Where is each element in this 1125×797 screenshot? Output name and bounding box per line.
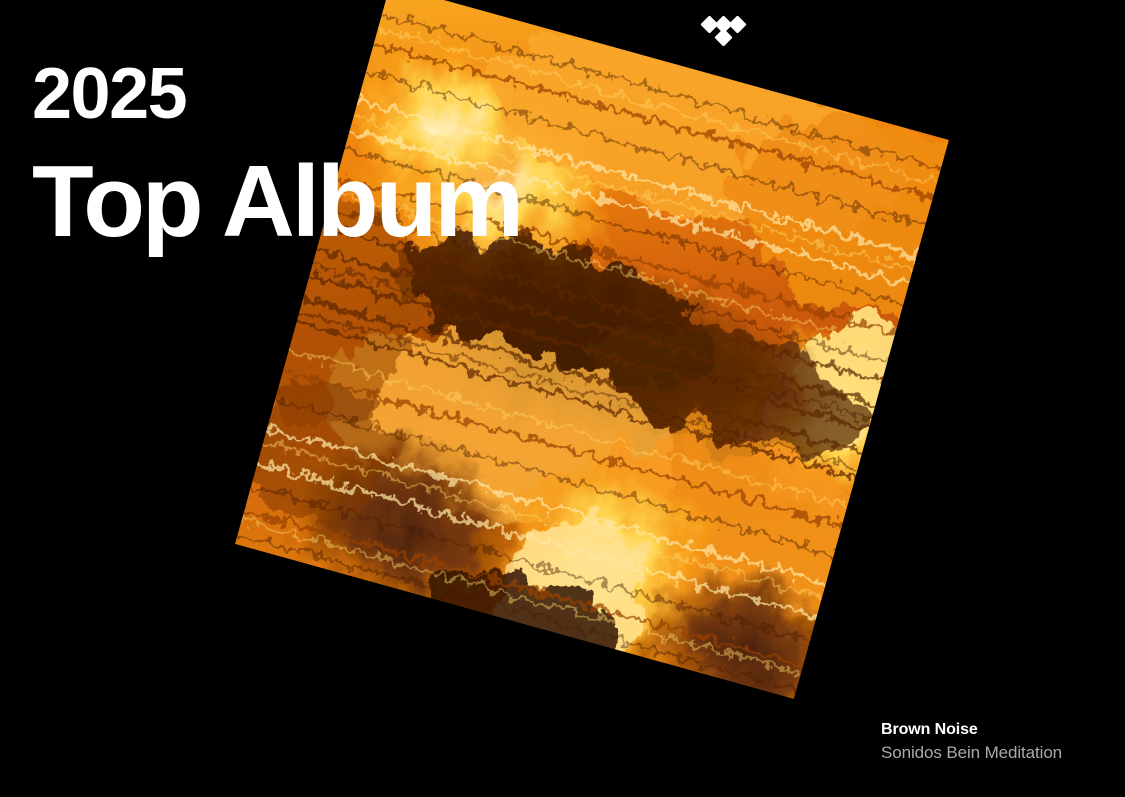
album-credit[interactable]: Brown Noise Sonidos Bein Meditation	[881, 720, 1062, 764]
tidal-logo-icon	[702, 16, 746, 46]
tidal-diamond-right	[728, 15, 746, 33]
tidal-diamond-bottom	[714, 28, 732, 46]
album-artist: Sonidos Bein Meditation	[881, 742, 1062, 764]
story-canvas: 2025 Top Album Brown Noise Sonidos Bein …	[0, 0, 1125, 797]
album-artwork[interactable]	[235, 0, 949, 699]
album-artwork-image	[235, 0, 949, 699]
album-name: Brown Noise	[881, 720, 1062, 740]
